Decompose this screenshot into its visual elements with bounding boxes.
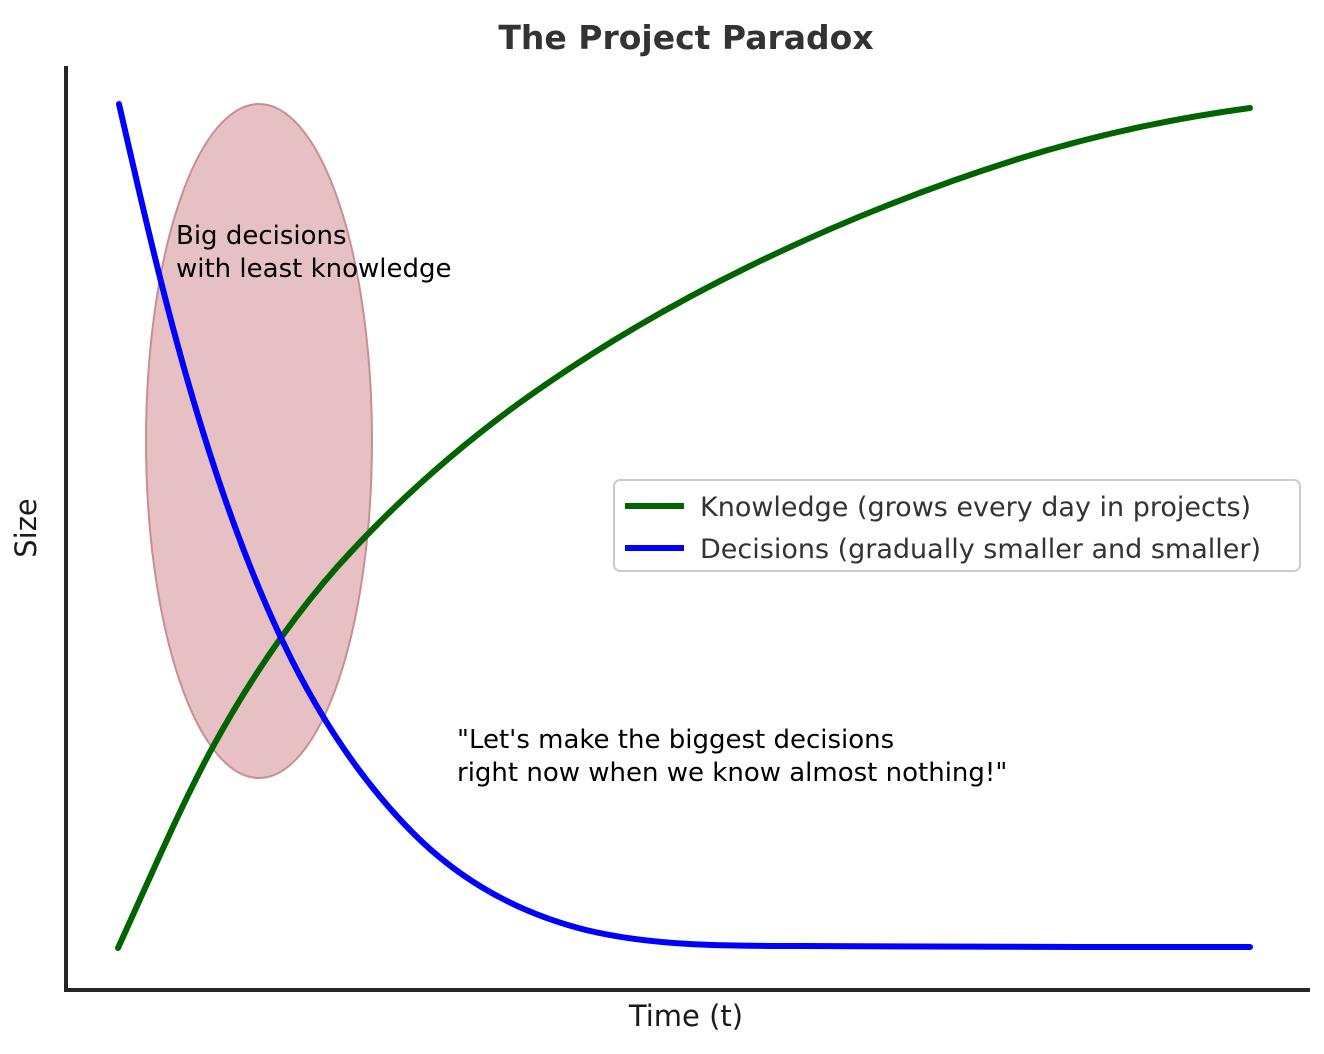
x-axis-label: Time (t): [628, 999, 743, 1033]
highlight-annotation-line1: Big decisions: [176, 221, 347, 251]
highlight-annotation-line2: with least knowledge: [176, 254, 452, 284]
legend-item-decisions[interactable]: Decisions (gradually smaller and smaller…: [625, 534, 1261, 565]
chart-legend[interactable]: Knowledge (grows every day in projects) …: [614, 480, 1300, 571]
legend-label-knowledge: Knowledge (grows every day in projects): [700, 492, 1251, 523]
highlight-ellipse: [146, 104, 372, 778]
project-paradox-chart: The Project Paradox Big decisions with l…: [0, 0, 1324, 1054]
quote-annotation-line1: "Let's make the biggest decisions: [457, 725, 894, 755]
y-axis-label: Size: [9, 498, 43, 558]
chart-title: The Project Paradox: [498, 18, 873, 57]
legend-item-knowledge[interactable]: Knowledge (grows every day in projects): [625, 492, 1251, 523]
legend-label-decisions: Decisions (gradually smaller and smaller…: [700, 534, 1261, 565]
chart-figure: The Project Paradox Big decisions with l…: [0, 0, 1324, 1054]
quote-annotation-line2: right now when we know almost nothing!": [457, 758, 1007, 788]
